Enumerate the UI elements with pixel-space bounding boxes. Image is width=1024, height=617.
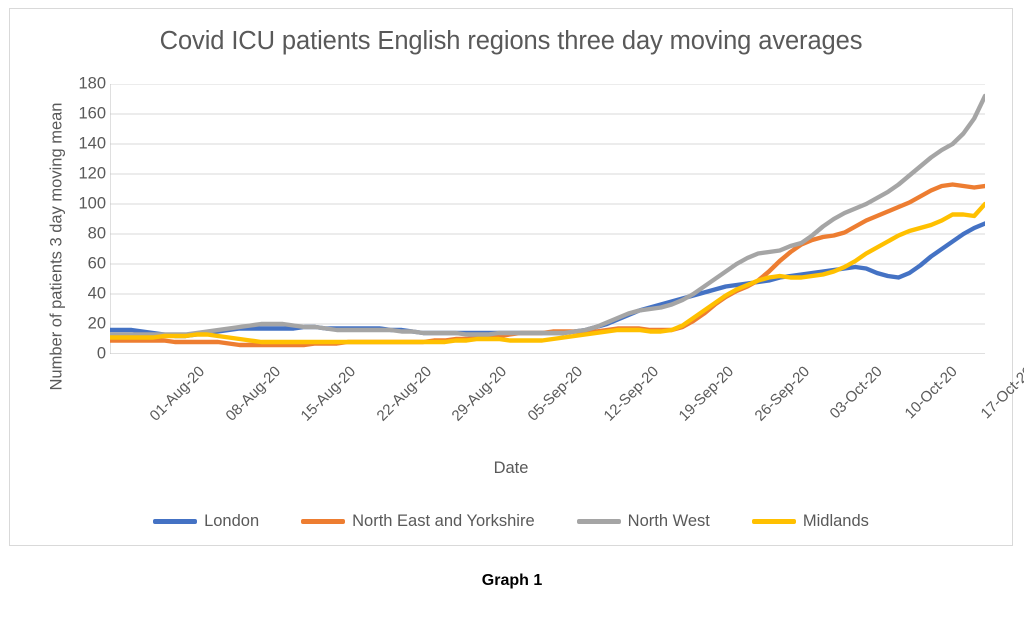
x-tick-11: 17-Oct-20 bbox=[977, 363, 1024, 422]
y-tick-80: 80 bbox=[88, 225, 106, 244]
legend-swatch-midlands bbox=[752, 519, 796, 524]
x-axis-title: Date bbox=[10, 459, 1012, 478]
legend-swatch-london bbox=[153, 519, 197, 524]
series-line-midlands bbox=[110, 204, 985, 342]
plot-area bbox=[110, 84, 985, 354]
x-tick-10: 10-Oct-20 bbox=[902, 363, 961, 422]
legend-label-north-east-and-yorkshire: North East and Yorkshire bbox=[352, 512, 535, 531]
chart-legend: LondonNorth East and YorkshireNorth West… bbox=[10, 512, 1012, 531]
series-canvas bbox=[110, 84, 985, 354]
y-axis-tick-labels: 180160140120100806040200 bbox=[58, 84, 106, 354]
legend-item-london[interactable]: London bbox=[153, 512, 259, 531]
y-tick-180: 180 bbox=[78, 75, 106, 94]
x-axis-tick-labels: 01-Aug-2008-Aug-2015-Aug-2022-Aug-2029-A… bbox=[110, 357, 985, 447]
series-line-north-west bbox=[110, 96, 985, 335]
legend-swatch-north-west bbox=[577, 519, 621, 524]
y-tick-60: 60 bbox=[88, 255, 106, 274]
y-tick-140: 140 bbox=[78, 135, 106, 154]
y-tick-100: 100 bbox=[78, 195, 106, 214]
y-tick-40: 40 bbox=[88, 285, 106, 304]
legend-label-midlands: Midlands bbox=[803, 512, 869, 531]
chart-container: Covid ICU patients English regions three… bbox=[9, 8, 1013, 546]
legend-label-london: London bbox=[204, 512, 259, 531]
legend-item-north-east-and-yorkshire[interactable]: North East and Yorkshire bbox=[301, 512, 535, 531]
y-tick-20: 20 bbox=[88, 315, 106, 334]
x-tick-5: 05-Sep-20 bbox=[525, 363, 587, 425]
series-line-london bbox=[110, 224, 985, 337]
x-tick-6: 12-Sep-20 bbox=[600, 363, 662, 425]
chart-title: Covid ICU patients English regions three… bbox=[10, 27, 1012, 56]
x-tick-1: 08-Aug-20 bbox=[222, 363, 284, 425]
figure-caption: Graph 1 bbox=[0, 572, 1024, 590]
screenshot-root: Covid ICU patients English regions three… bbox=[0, 0, 1024, 617]
x-tick-3: 22-Aug-20 bbox=[373, 363, 435, 425]
x-tick-2: 15-Aug-20 bbox=[298, 363, 360, 425]
legend-item-midlands[interactable]: Midlands bbox=[752, 512, 869, 531]
x-tick-7: 19-Sep-20 bbox=[676, 363, 738, 425]
x-tick-9: 03-Oct-20 bbox=[826, 363, 885, 422]
y-tick-160: 160 bbox=[78, 105, 106, 124]
x-tick-8: 26-Sep-20 bbox=[751, 363, 813, 425]
x-tick-0: 01-Aug-20 bbox=[147, 363, 209, 425]
x-tick-4: 29-Aug-20 bbox=[449, 363, 511, 425]
legend-item-north-west[interactable]: North West bbox=[577, 512, 710, 531]
legend-swatch-north-east-and-yorkshire bbox=[301, 519, 345, 524]
y-tick-0: 0 bbox=[97, 345, 106, 364]
legend-label-north-west: North West bbox=[628, 512, 710, 531]
y-tick-120: 120 bbox=[78, 165, 106, 184]
